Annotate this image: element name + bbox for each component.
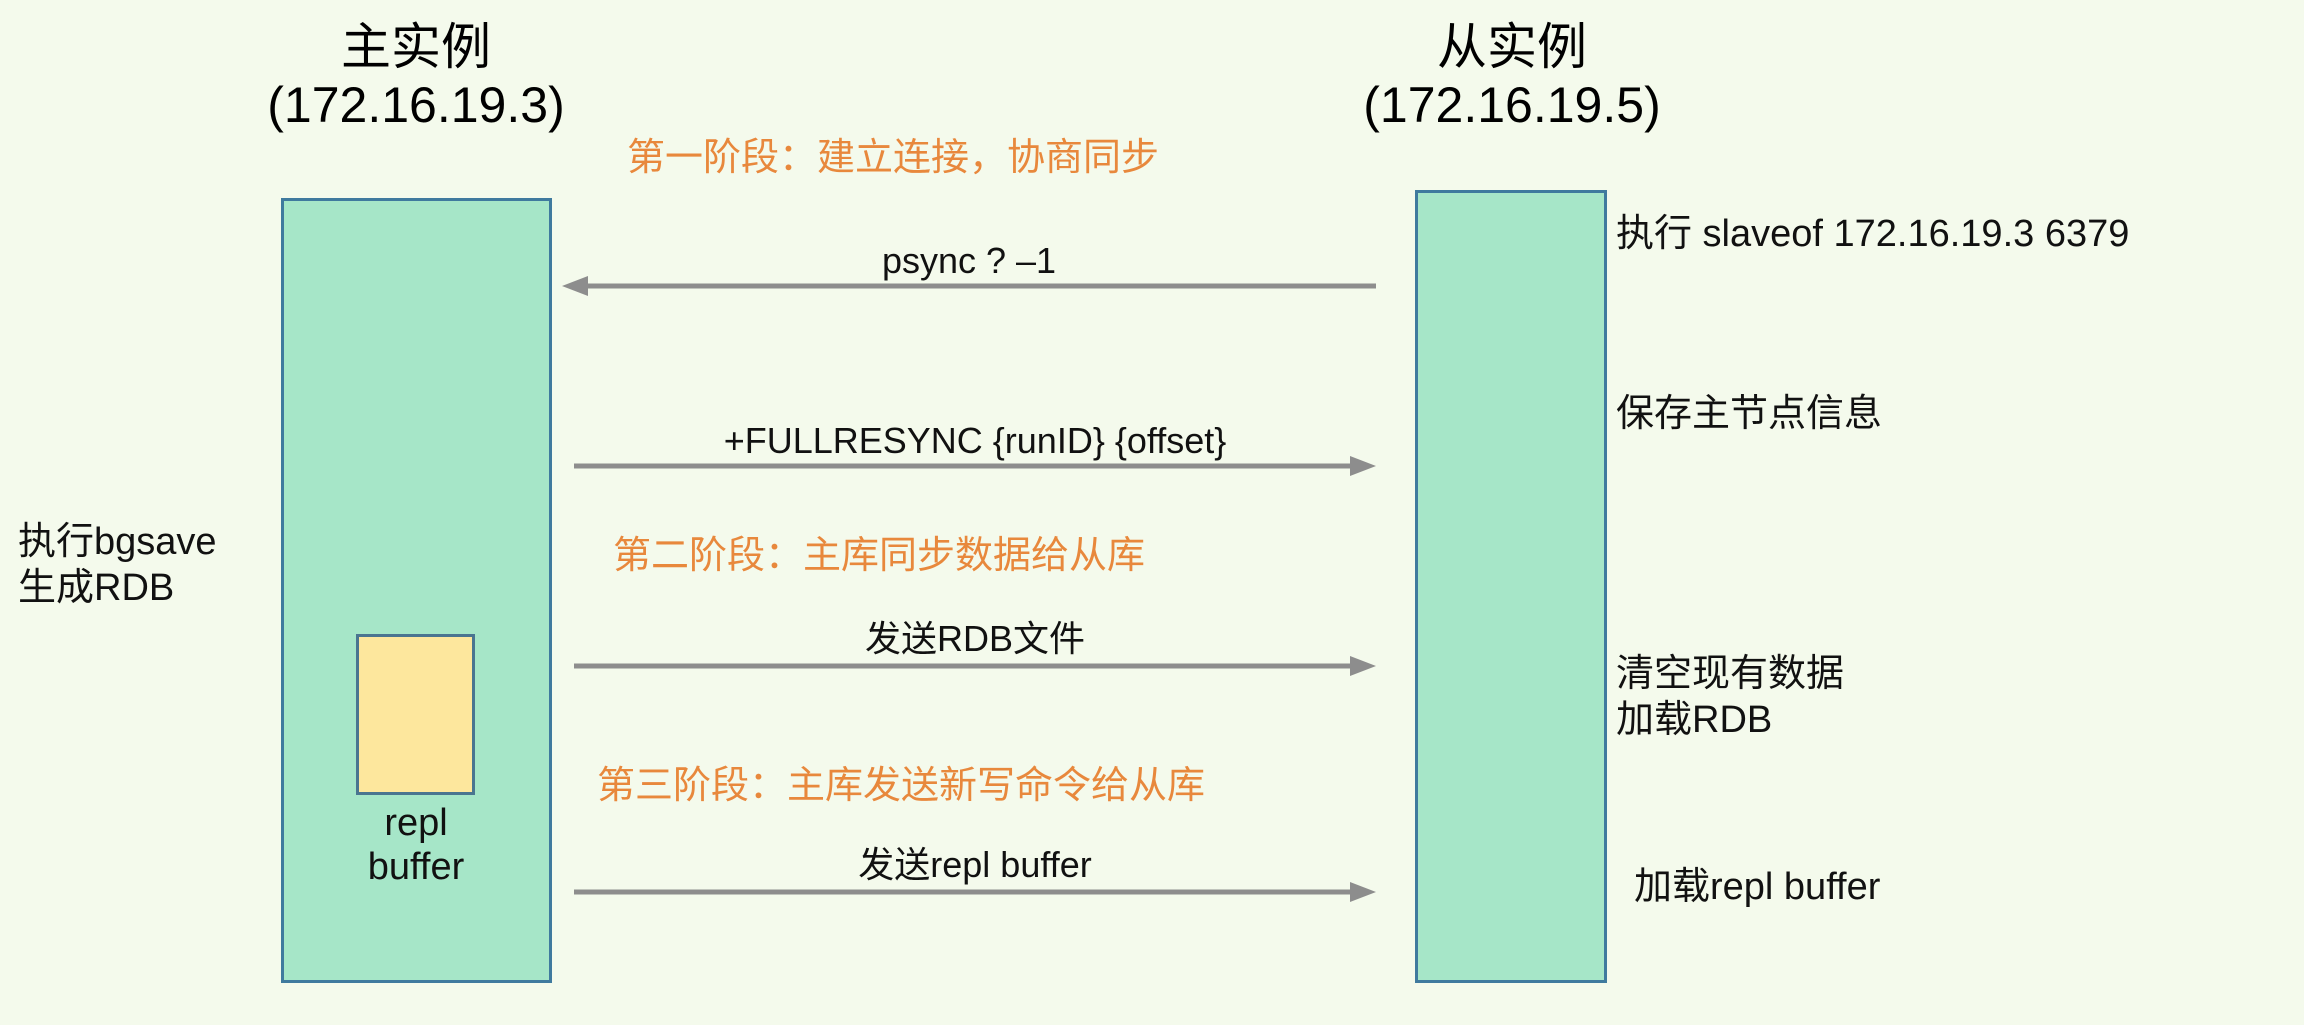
message-send-rdb: 发送RDB文件: [574, 602, 1376, 672]
slave-instance-header: 从实例 (172.16.19.5): [1342, 18, 1682, 134]
slave-instance-box: [1415, 190, 1607, 983]
slave-note-slaveof-text: 执行 slaveof 172.16.19.3 6379: [1616, 212, 2129, 258]
message-send-repl-buffer: 发送repl buffer: [574, 828, 1376, 898]
master-bgsave-note: 执行bgsave 生成RDB: [18, 520, 217, 611]
phase-1-caption: 第一阶段：建立连接，协商同步: [627, 126, 1159, 181]
slave-instance-address: (172.16.19.5): [1342, 76, 1682, 134]
slave-note-save-master-info: 保存主节点信息: [1616, 392, 1882, 438]
arrow-left-icon: [562, 274, 1376, 298]
repl-buffer-label: repl buffer: [311, 802, 521, 889]
arrow-right-icon: [574, 880, 1376, 904]
slave-note-load-repl-buffer-text: 加载repl buffer: [1634, 865, 1880, 911]
arrow-right-icon: [574, 454, 1376, 478]
master-bgsave-note-line2: 生成RDB: [18, 566, 217, 612]
slave-note-save-master-info-text: 保存主节点信息: [1616, 392, 1882, 438]
master-instance-header: 主实例 (172.16.19.3): [251, 18, 581, 134]
arrow-right-icon: [574, 654, 1376, 678]
phase-3-caption: 第三阶段：主库发送新写命令给从库: [597, 754, 1205, 809]
message-psync: psync ? –1: [562, 222, 1376, 292]
master-bgsave-note-line1: 执行bgsave: [18, 520, 217, 566]
message-fullresync: +FULLRESYNC {runID} {offset}: [574, 402, 1376, 472]
repl-buffer-box: [356, 634, 475, 795]
slave-note-slaveof: 执行 slaveof 172.16.19.3 6379: [1616, 212, 2129, 258]
slave-note-load-repl-buffer: 加载repl buffer: [1634, 865, 1880, 911]
slave-note-flush-data-text: 清空现有数据: [1616, 652, 1844, 698]
repl-buffer-label-line2: buffer: [311, 846, 521, 890]
master-instance-name: 主实例: [251, 18, 581, 76]
slave-note-load-rdb-text: 加载RDB: [1616, 698, 1844, 744]
slave-note-load-rdb: 清空现有数据 加载RDB: [1616, 652, 1844, 743]
slave-instance-name: 从实例: [1342, 18, 1682, 76]
master-instance-address: (172.16.19.3): [251, 76, 581, 134]
repl-buffer-label-line1: repl: [311, 802, 521, 846]
phase-2-caption: 第二阶段：主库同步数据给从库: [613, 524, 1145, 579]
replication-diagram: 主实例 (172.16.19.3) repl buffer 执行bgsave 生…: [0, 0, 2304, 1025]
